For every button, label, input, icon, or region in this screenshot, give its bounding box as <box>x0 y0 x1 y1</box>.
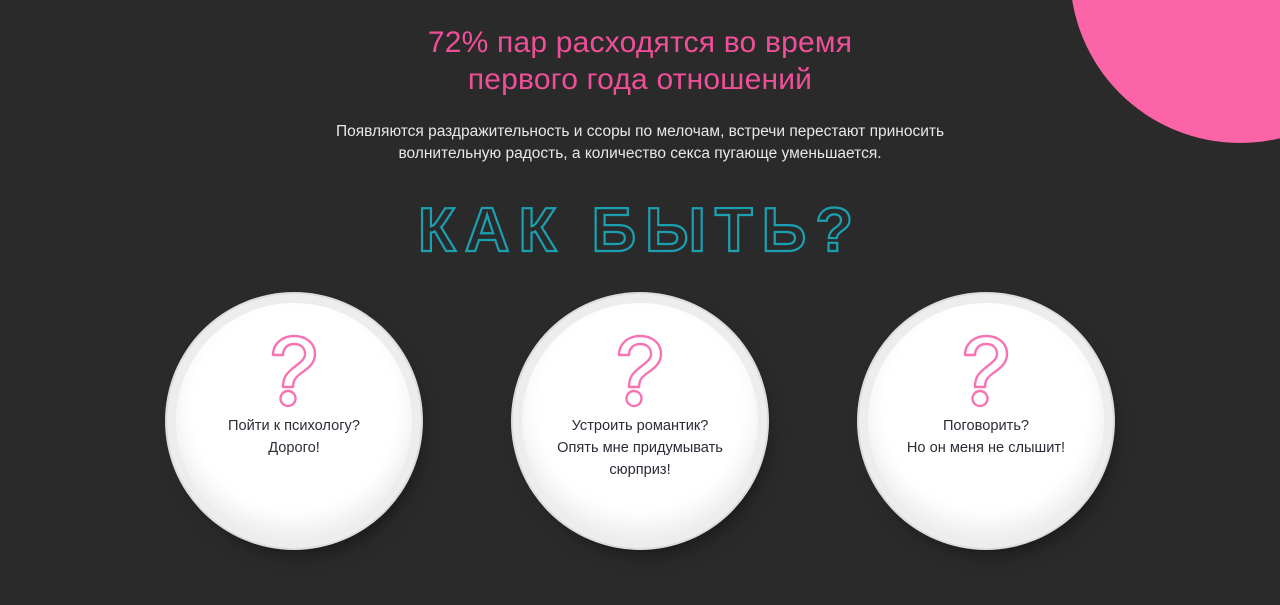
bubble-row: Пойти к психологу? Дорого! Устроить рома… <box>0 303 1280 543</box>
slide-root: 72% пар расходятся во время первого года… <box>0 0 1280 605</box>
question-mark-icon <box>265 333 323 407</box>
page-title: 72% пар расходятся во время первого года… <box>0 24 1280 98</box>
bubble-label: Устроить романтик? Опять мне придумывать… <box>545 415 735 481</box>
question-mark-icon <box>957 333 1015 407</box>
bubble-label: Пойти к психологу? Дорого! <box>199 415 389 459</box>
bubble-card: Поговорить? Но он меня не слышит! <box>868 303 1104 539</box>
bubble-card: Пойти к психологу? Дорого! <box>176 303 412 539</box>
section-heading: КАК БЫТЬ? <box>0 196 1280 266</box>
bubble-card: Устроить романтик? Опять мне придумывать… <box>522 303 758 539</box>
question-mark-icon <box>611 333 669 407</box>
subtitle-text: Появляются раздражительность и ссоры по … <box>0 121 1280 165</box>
bubble-label: Поговорить? Но он меня не слышит! <box>891 415 1081 459</box>
